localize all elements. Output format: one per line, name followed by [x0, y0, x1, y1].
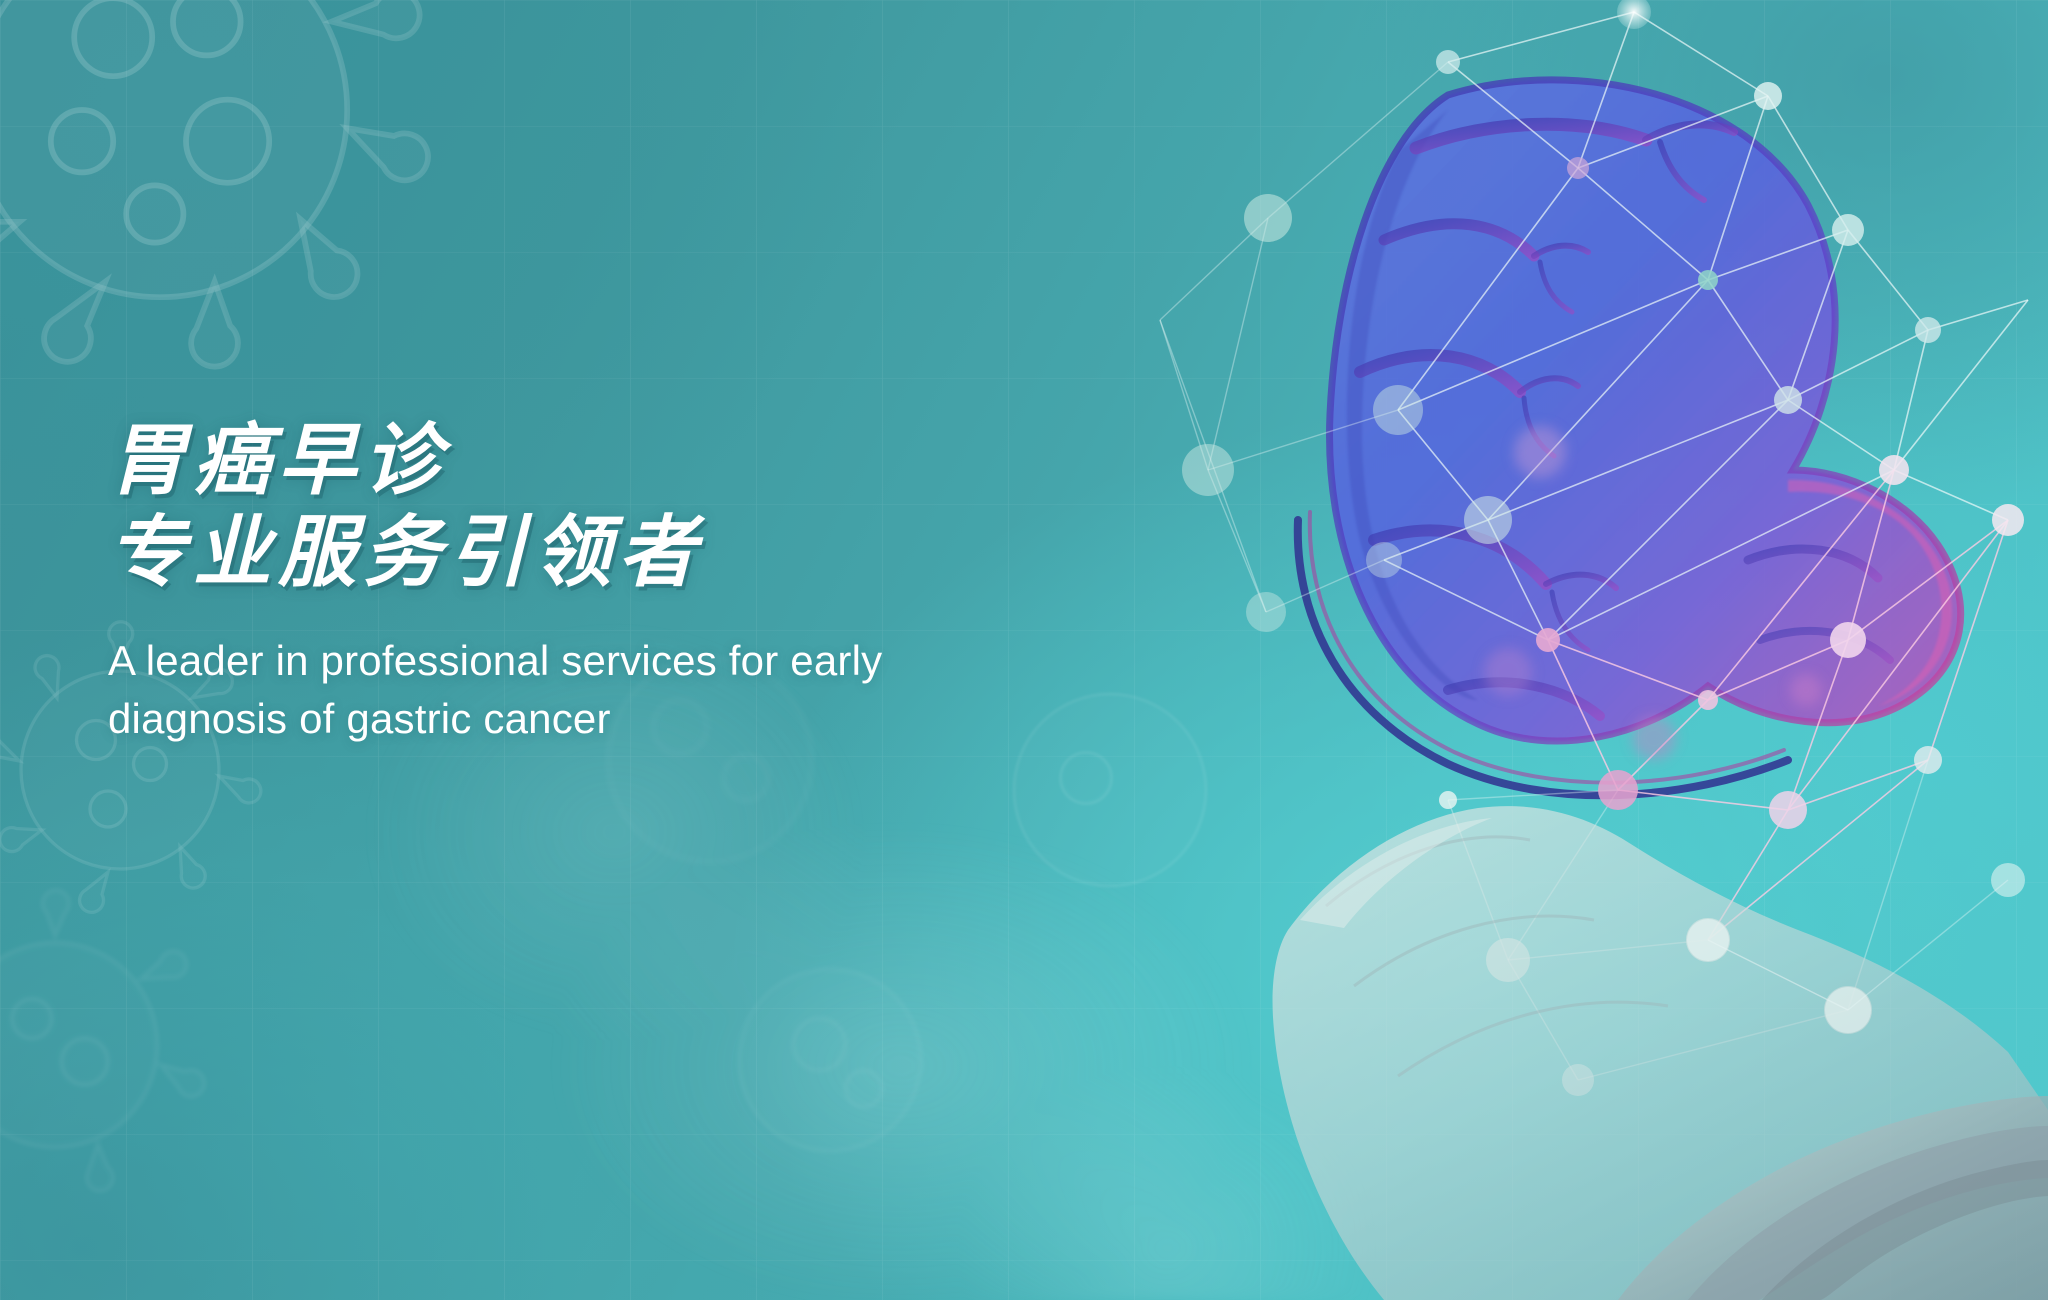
hero-banner: 胃癌早诊专业服务引领者 A leader in professional ser…: [0, 0, 2048, 1300]
headline-line-1: 胃癌早诊: [108, 416, 448, 504]
subtitle-line-1: A leader in professional services for ea…: [108, 637, 882, 684]
banner-copy: 胃癌早诊专业服务引领者 A leader in professional ser…: [108, 414, 1168, 748]
page-title: 胃癌早诊专业服务引领者: [108, 414, 1168, 598]
headline-line-2: 专业服务引领者: [108, 506, 1168, 598]
hand-holding-stomach-illustration: [1148, 0, 2048, 1300]
subtitle-line-2: diagnosis of gastric cancer: [108, 695, 611, 742]
banner-subtitle: A leader in professional services for ea…: [108, 632, 1118, 748]
